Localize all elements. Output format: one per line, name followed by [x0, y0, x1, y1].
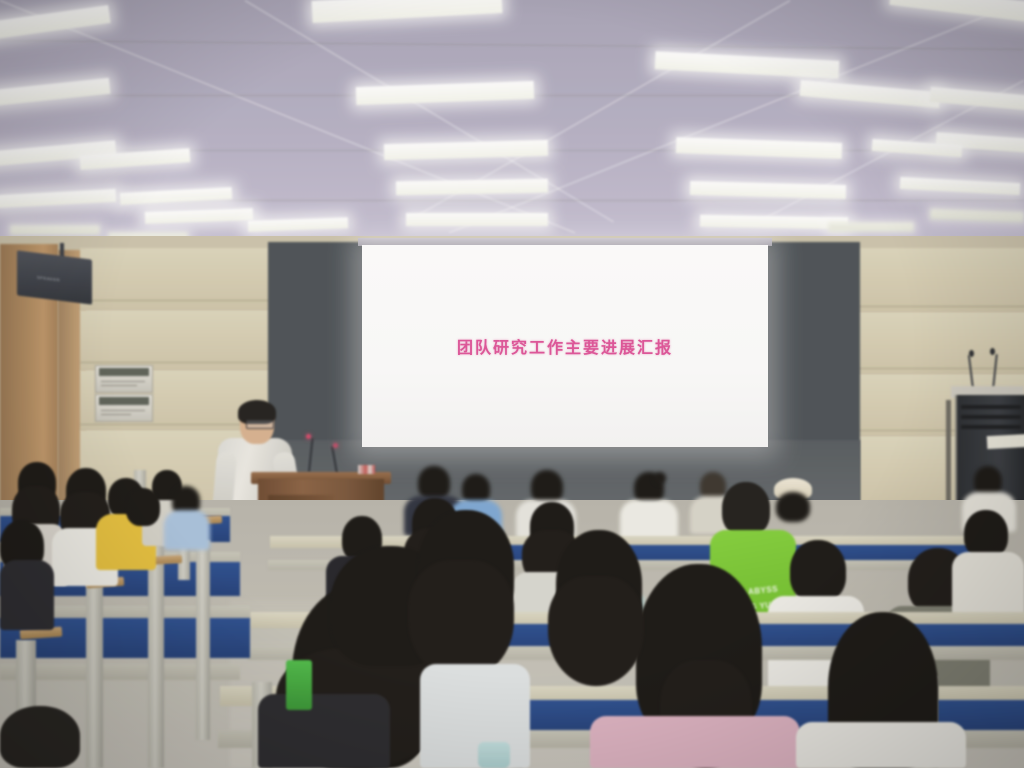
water-bottle	[478, 742, 510, 768]
audience-head	[964, 510, 1008, 558]
panel-groove	[856, 306, 1024, 307]
rack-paper-sheet	[987, 434, 1024, 449]
panel-line	[101, 414, 131, 415]
audience-body	[620, 500, 678, 540]
podium-microphone-indicator	[306, 434, 311, 439]
audience-body	[0, 560, 54, 630]
rack-microphone-head	[969, 350, 974, 357]
acoustic-wall-panel	[80, 248, 270, 311]
audience-head	[776, 492, 810, 522]
audience-head-foreground	[0, 706, 80, 768]
ceiling-light-panel	[828, 222, 914, 232]
audience-head	[126, 488, 160, 526]
panel-groove	[80, 300, 270, 301]
panel-line	[101, 410, 145, 411]
seat-post	[148, 546, 164, 768]
rack-slot	[961, 405, 1021, 409]
green-bag	[286, 660, 312, 710]
panel-line	[101, 385, 137, 386]
audience-body-foreground	[258, 694, 390, 768]
presenter-glasses	[246, 420, 274, 429]
panel-screen	[99, 397, 149, 405]
rack-microphone-head	[990, 348, 995, 355]
lecture-hall-photo: SPEAKER 团队研究工作主要进展汇报	[0, 0, 1024, 768]
audience-head	[531, 470, 563, 504]
panel-line	[101, 381, 145, 382]
rack-slot	[961, 425, 1021, 429]
audience-head	[790, 540, 846, 602]
panel-groove	[80, 362, 270, 363]
panel-screen	[99, 368, 149, 376]
audience-hair-foreground	[408, 560, 514, 680]
audience-body	[164, 510, 210, 550]
audience-hair-bun	[654, 472, 666, 484]
audience-head	[418, 466, 450, 500]
audience-body	[952, 552, 1024, 616]
wall-control-panel-lower[interactable]	[95, 394, 153, 422]
acoustic-wall-panel	[856, 248, 1024, 313]
seat-post	[86, 560, 103, 768]
projection-screen[interactable]: 团队研究工作主要进展汇报	[362, 245, 768, 447]
panel-groove	[856, 368, 1024, 369]
slide-title: 团队研究工作主要进展汇报	[362, 334, 768, 358]
ceiling-light-panel	[406, 213, 548, 226]
audience-body-foreground	[796, 722, 966, 768]
rack-slot	[961, 415, 1021, 419]
audience-head	[722, 482, 770, 536]
ceiling-light-panel	[10, 225, 100, 235]
audience-body-foreground	[590, 716, 800, 768]
audience-hair-foreground	[548, 576, 644, 686]
wall-control-panel-upper[interactable]	[95, 365, 153, 393]
ceiling	[0, 0, 1024, 248]
podium-microphone-indicator	[333, 443, 338, 448]
ceiling-light-panel	[396, 179, 548, 196]
podium-nameplate	[358, 465, 375, 474]
seat-post	[196, 540, 210, 740]
ceiling-light-panel	[700, 215, 848, 230]
audience-body-foreground	[420, 664, 530, 768]
acoustic-wall-panel	[856, 312, 1024, 375]
